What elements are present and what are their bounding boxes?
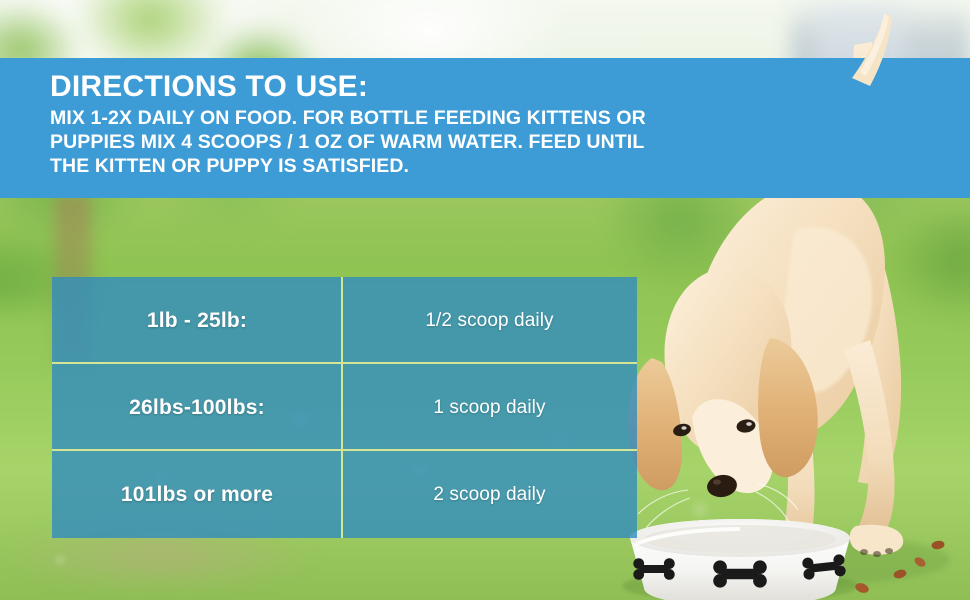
banner-body-line-1: MIX 1-2X DAILY ON FOOD. FOR BOTTLE FEEDI… [50,106,970,130]
table-cell-dose-2: 1 scoop daily [342,364,637,451]
directions-banner: DIRECTIONS TO USE: MIX 1-2X DAILY ON FOO… [0,58,970,198]
table-cell-dose-3: 2 scoop daily [342,451,637,538]
table-cell-weight-1: 1lb - 25lb: [52,277,342,364]
promo-banner-image: DIRECTIONS TO USE: MIX 1-2X DAILY ON FOO… [0,0,970,600]
banner-body-line-2: PUPPIES MIX 4 SCOOPS / 1 OZ OF WARM WATE… [50,130,970,154]
table-divider-horizontal-2 [52,449,637,451]
table-divider-vertical [341,277,343,538]
banner-body-line-3: THE KITTEN OR PUPPY IS SATISFIED. [50,154,970,178]
table-cell-dose-1: 1/2 scoop daily [342,277,637,364]
banner-title: DIRECTIONS TO USE: [50,68,970,106]
dosage-table: 1lb - 25lb: 1/2 scoop daily 26lbs-100lbs… [52,277,637,538]
table-cell-weight-3: 101lbs or more [52,451,342,538]
table-divider-horizontal-1 [52,362,637,364]
table-cell-weight-2: 26lbs-100lbs: [52,364,342,451]
